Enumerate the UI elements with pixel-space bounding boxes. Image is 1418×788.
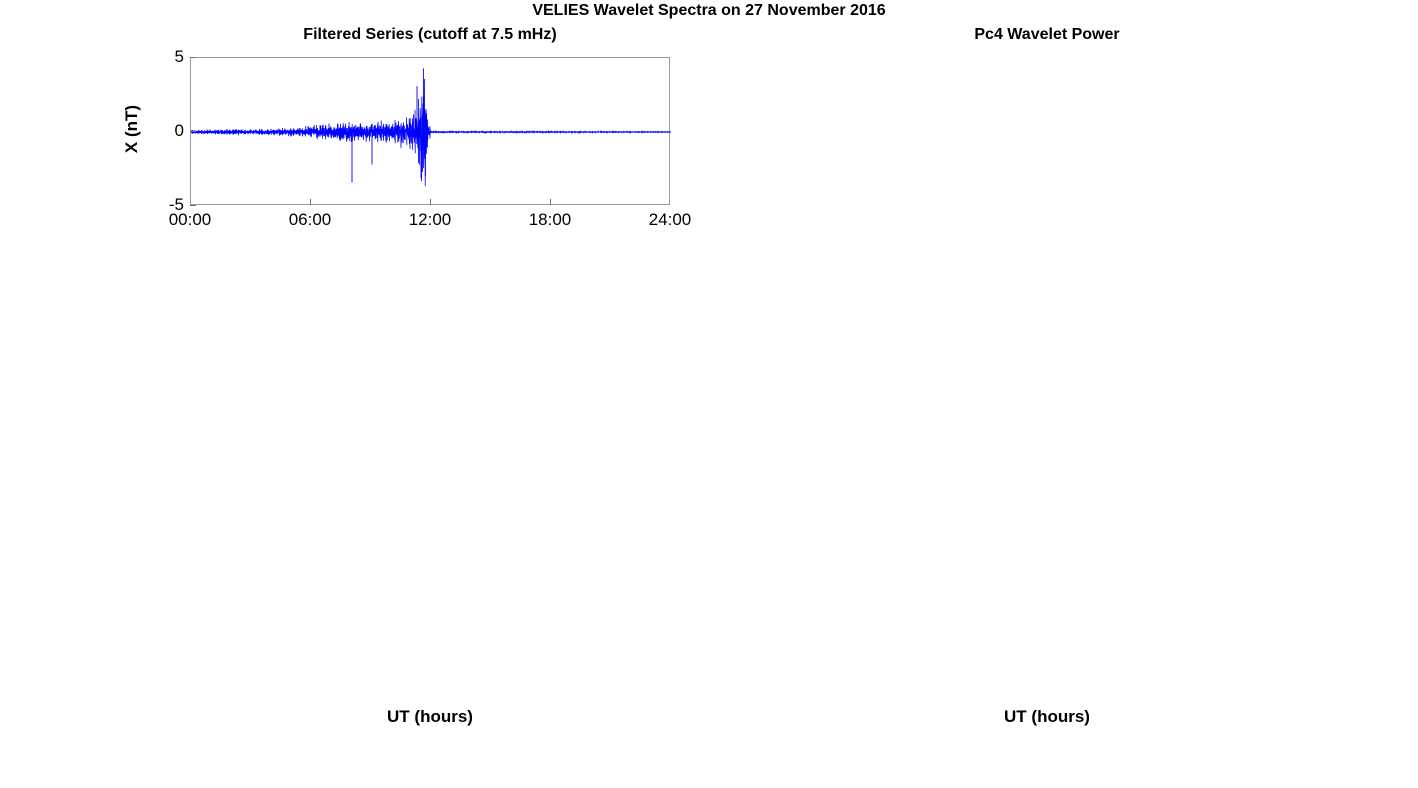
- right-xaxis-label: UT (hours): [812, 707, 1282, 727]
- timeseries-xtickmark: [430, 199, 431, 205]
- timeseries-ylabel-X-filtered-series: X (nT): [122, 69, 142, 189]
- timeseries-xtick-X-filtered-series-2: 12:00: [385, 211, 475, 228]
- timeseries-xtickmark: [310, 199, 311, 205]
- timeseries-ytickmark: [190, 205, 196, 206]
- timeseries-xtick-X-filtered-series-1: 06:00: [265, 211, 355, 228]
- figure-canvas: VELIES Wavelet Spectra on 27 November 20…: [0, 0, 1418, 788]
- left-xaxis-label: UT (hours): [190, 707, 670, 727]
- timeseries-xtick-X-filtered-series-4: 24:00: [625, 211, 715, 228]
- timeseries-trace-X-filtered-series: [191, 58, 671, 206]
- timeseries-xtick-X-filtered-series-0: 00:00: [145, 211, 235, 228]
- left-column-title: Filtered Series (cutoff at 7.5 mHz): [190, 26, 670, 44]
- timeseries-ytickmark: [190, 131, 196, 132]
- timeseries-ytickmark: [190, 57, 196, 58]
- timeseries-ytick-X-filtered-series-0: 0: [146, 122, 184, 139]
- timeseries-axes-X-filtered-series: [190, 57, 670, 205]
- timeseries-xtickmark: [550, 199, 551, 205]
- figure-main-title: VELIES Wavelet Spectra on 27 November 20…: [0, 2, 1418, 20]
- timeseries-xtick-X-filtered-series-3: 18:00: [505, 211, 595, 228]
- right-column-title: Pc4 Wavelet Power: [812, 26, 1282, 44]
- timeseries-ytick-X-filtered-series-5: 5: [146, 48, 184, 65]
